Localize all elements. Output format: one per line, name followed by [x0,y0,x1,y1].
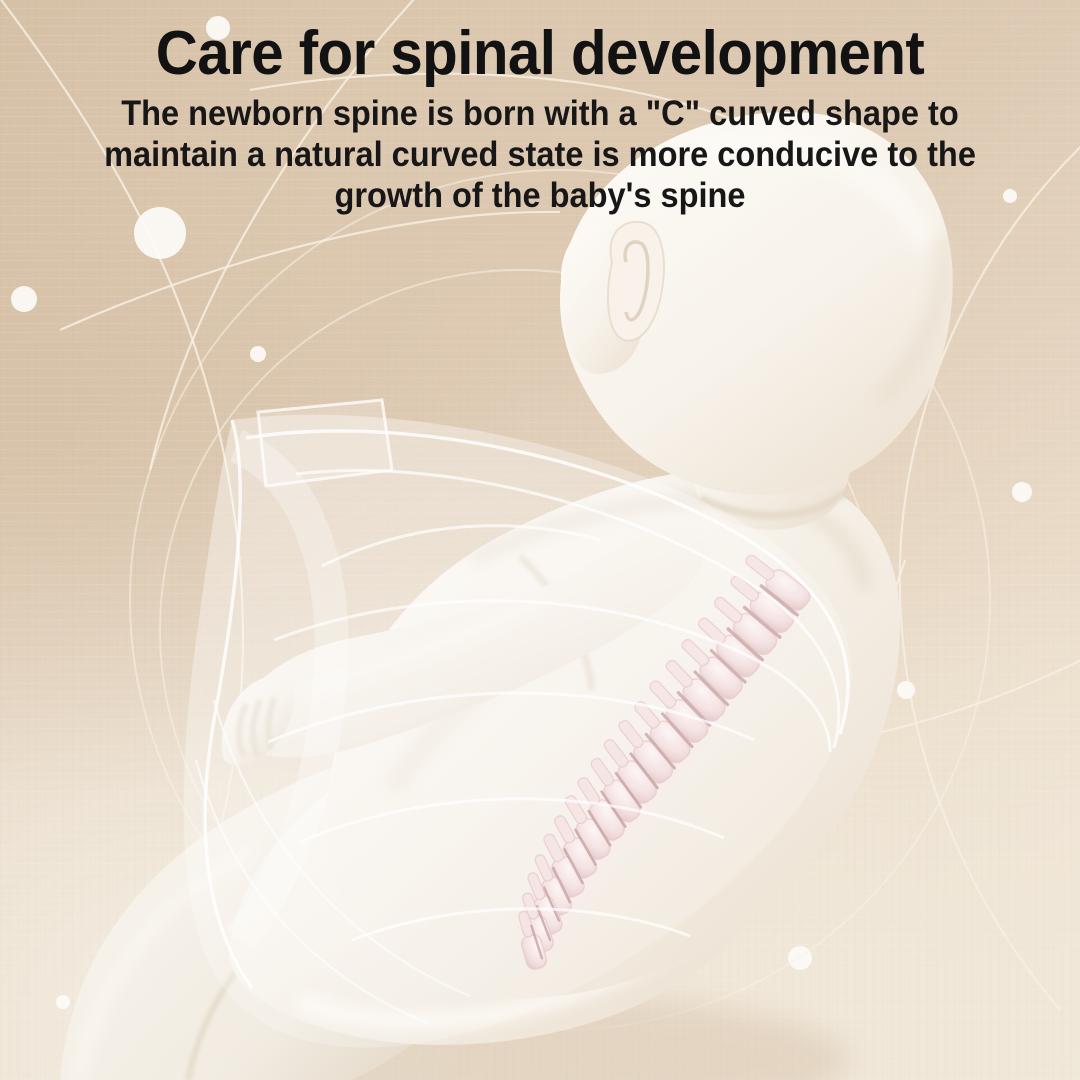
headline-block: Care for spinal development The newborn … [0,22,1080,216]
page-subtitle: The newborn spine is born with a "C" cur… [70,94,1009,216]
page-title: Care for spinal development [32,22,1047,86]
poster-canvas: Care for spinal development The newborn … [0,0,1080,1080]
